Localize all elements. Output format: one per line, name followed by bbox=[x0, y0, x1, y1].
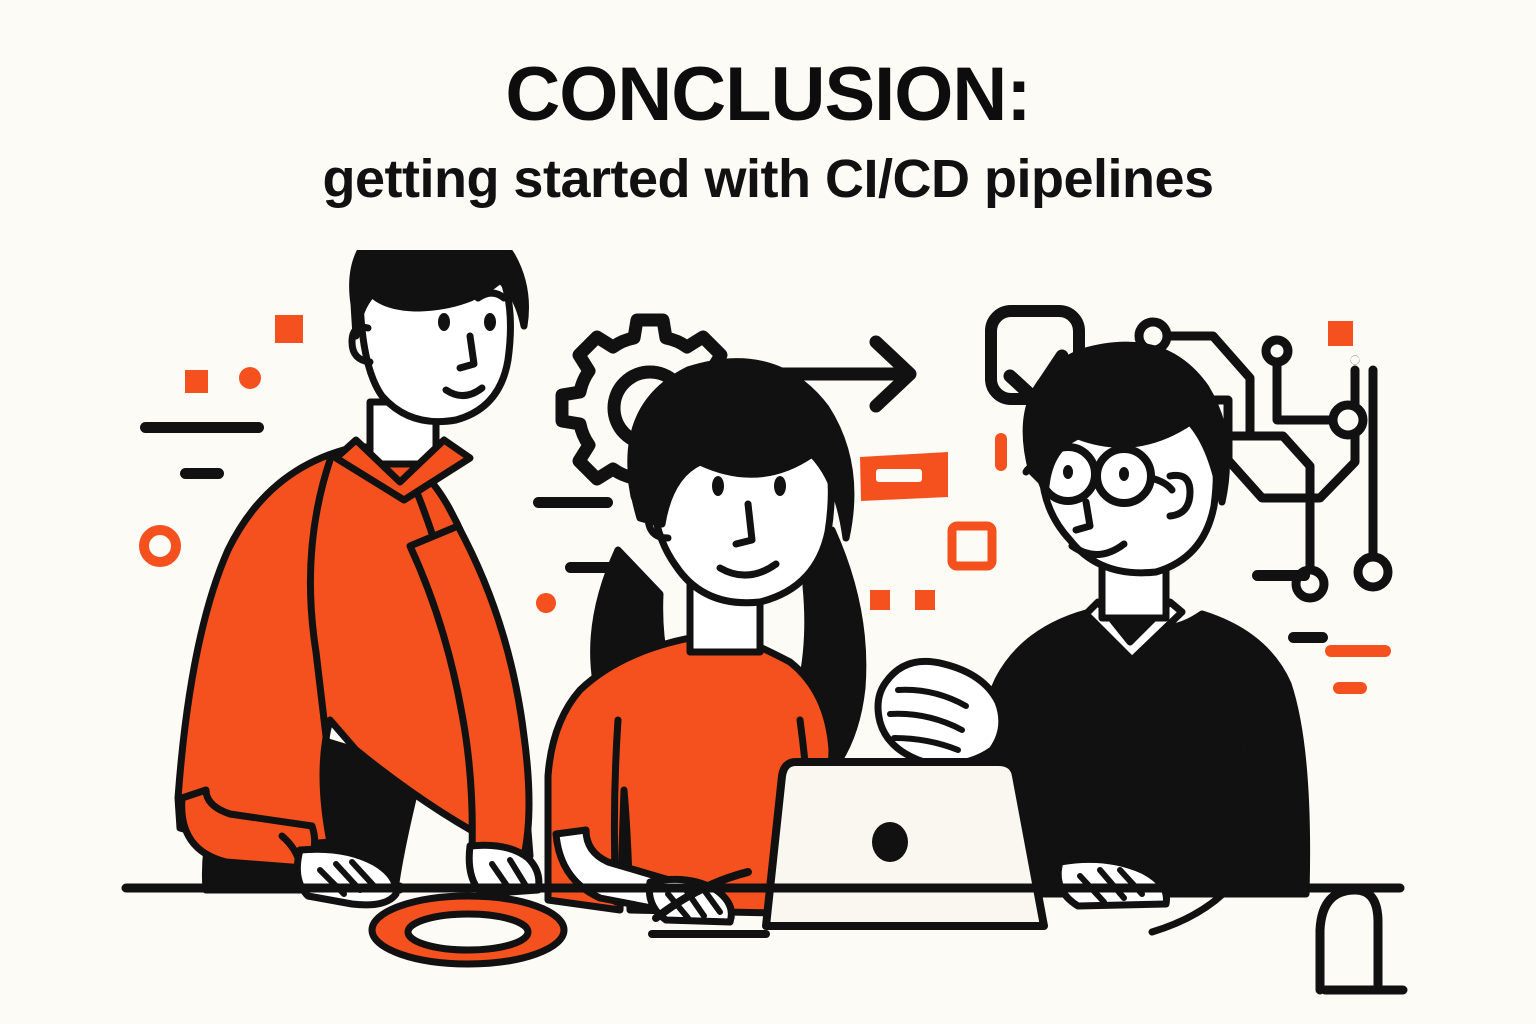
orange-badge-with-slot bbox=[860, 452, 948, 501]
orange-bar bbox=[1325, 645, 1391, 657]
title-block: CONCLUSION: getting started with CI/CD p… bbox=[0, 56, 1536, 209]
page-subtitle: getting started with CI/CD pipelines bbox=[0, 150, 1536, 209]
orange-bar bbox=[1333, 682, 1367, 694]
orange-square-outline bbox=[952, 526, 992, 566]
laptop-logo-icon bbox=[872, 822, 908, 862]
orange-dot bbox=[536, 593, 556, 613]
orange-square-filled bbox=[185, 370, 208, 393]
black-dash bbox=[140, 422, 264, 433]
black-dash bbox=[1288, 632, 1328, 643]
black-dash bbox=[533, 497, 613, 508]
orange-square-filled bbox=[870, 590, 890, 610]
orange-square-filled bbox=[275, 315, 303, 343]
circuit-board-icon-lower bbox=[1358, 370, 1388, 587]
black-dash bbox=[180, 468, 224, 479]
orange-ring-on-desk bbox=[372, 896, 564, 964]
page-title: CONCLUSION: bbox=[0, 56, 1536, 134]
illustration: .ink { fill:none; stroke:#111111; stroke… bbox=[0, 250, 1536, 1024]
orange-square-filled bbox=[915, 590, 935, 610]
orange-square-filled bbox=[1328, 321, 1353, 346]
orange-bar bbox=[995, 433, 1007, 471]
office-chair bbox=[1320, 890, 1403, 990]
orange-ring-outline bbox=[144, 530, 176, 562]
orange-dot bbox=[239, 367, 261, 389]
black-dash bbox=[1252, 570, 1310, 581]
figure-standing-man-left bbox=[178, 250, 539, 905]
poster-canvas: CONCLUSION: getting started with CI/CD p… bbox=[0, 0, 1536, 1024]
